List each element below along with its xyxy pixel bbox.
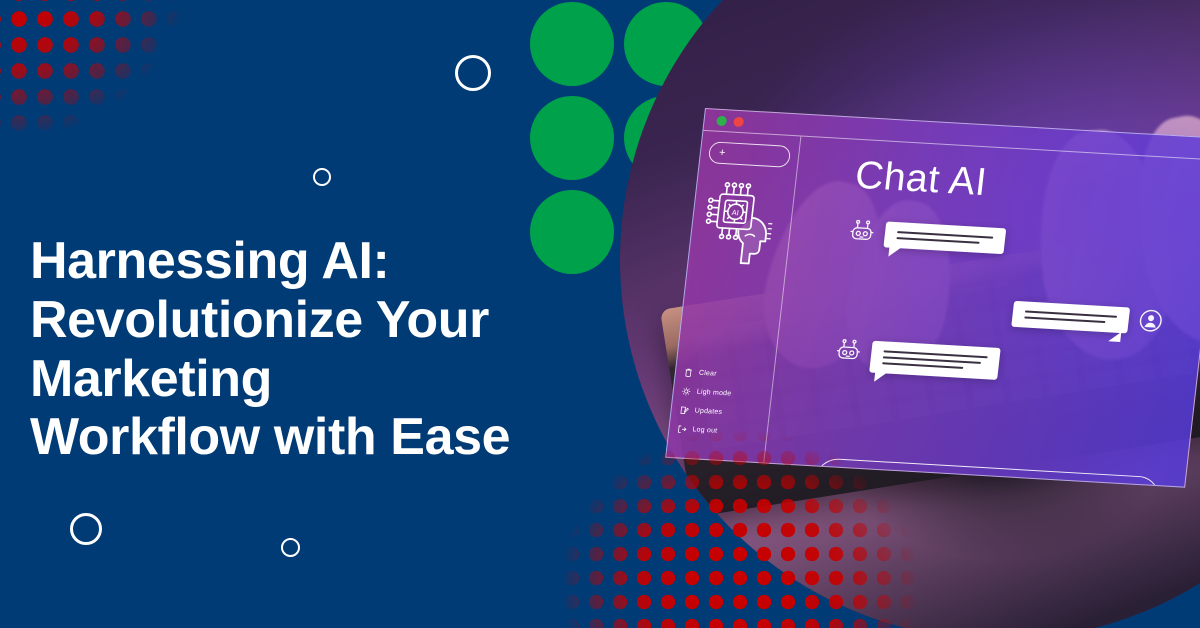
sidebar-item-logout[interactable]: Log out [677, 424, 759, 438]
robot-icon [848, 219, 876, 242]
sidebar-menu: Clear Ligh mode [675, 368, 765, 454]
chat-message-bot-1 [847, 219, 1006, 254]
ring-top [455, 55, 491, 91]
chat-message-bot-2 [833, 339, 1001, 380]
ring-bottom-left [70, 513, 102, 545]
user-avatar-icon [1137, 308, 1164, 333]
chat-bubble [1011, 301, 1130, 334]
robot-icon [834, 339, 862, 362]
edit-note-icon [679, 406, 689, 415]
chat-bubble [883, 221, 1006, 254]
banner-canvas: + [0, 0, 1200, 628]
headline-line-1: Harnessing AI: [30, 232, 630, 291]
headline-line-4: Workflow with Ease [30, 408, 630, 467]
chat-bubble [869, 341, 1001, 380]
trash-icon [683, 368, 693, 377]
chat-message-user-1 [1011, 301, 1164, 335]
headline-line-3: Marketing [30, 350, 630, 409]
page-title: Harnessing AI: Revolutionize Your Market… [30, 232, 630, 467]
chat-input-bar[interactable] [812, 458, 1161, 488]
sidebar-item-light-mode[interactable]: Ligh mode [681, 387, 763, 401]
ring-bottom-small [281, 538, 300, 557]
ai-chip-head-icon: AI [700, 179, 784, 269]
green-circle [530, 96, 614, 180]
sidebar-item-updates[interactable]: Updates [679, 406, 761, 420]
ring-mid [313, 168, 331, 186]
sidebar-item-clear[interactable]: Clear [683, 368, 765, 382]
chat-app-mockup: + [662, 108, 1200, 516]
window-dot-red-icon[interactable] [733, 116, 744, 127]
sidebar-item-updates-label: Updates [694, 407, 722, 416]
svg-text:AI: AI [731, 208, 739, 217]
sidebar-item-logout-label: Log out [692, 426, 718, 434]
chat-title: Chat AI [853, 154, 989, 205]
sun-icon [681, 387, 691, 396]
sidebar-item-light-mode-label: Ligh mode [696, 389, 731, 398]
logout-icon [677, 424, 687, 433]
window-body: + [666, 131, 1200, 488]
chat-app-window: + [665, 108, 1200, 488]
new-chat-button[interactable]: + [708, 141, 791, 168]
halftone-top-left [0, 0, 290, 250]
green-circle [530, 2, 614, 86]
headline-line-2: Revolutionize Your [30, 291, 630, 350]
window-dot-green-icon[interactable] [716, 115, 727, 126]
chat-main: Chat AI [764, 137, 1200, 488]
new-chat-label: + [718, 147, 726, 159]
sidebar-item-clear-label: Clear [699, 370, 718, 378]
